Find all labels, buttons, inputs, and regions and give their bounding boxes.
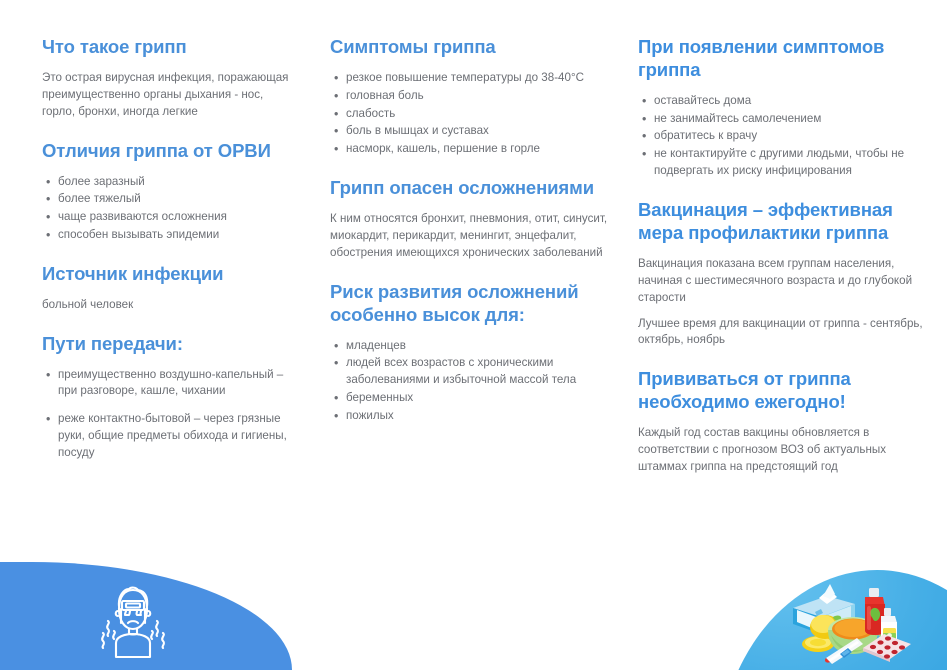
content-columns: Что такое грипп Это острая вирусная инфе… [0, 0, 947, 495]
section-heading: Симптомы гриппа [330, 36, 608, 59]
list-item: чаще развиваются осложнения [58, 209, 296, 226]
section-transmission-routes: Пути передачи: преимущественно воздушно-… [42, 333, 296, 462]
column-1: Что такое грипп Это острая вирусная инфе… [0, 36, 318, 495]
section-flu-vs-ari: Отличия гриппа от ОРВИ более заразный бо… [42, 140, 296, 244]
transmission-routes-list: преимущественно воздушно-капельный – при… [42, 367, 296, 462]
list-item: не контактируйте с другими людьми, чтобы… [654, 146, 933, 180]
section-heading: Вакцинация – эффективная мера профилакти… [638, 199, 933, 245]
section-if-symptoms-appear: При появлении симптомов гриппа оставайте… [638, 36, 933, 180]
list-item: более тяжелый [58, 191, 296, 208]
section-annual-vaccination: Прививаться от гриппа необходимо ежегодн… [638, 368, 933, 476]
section-high-risk-groups: Риск развития осложнений особенно высок … [330, 281, 608, 425]
section-infection-source: Источник инфекции больной человек [42, 263, 296, 314]
list-item: младенцев [346, 338, 608, 355]
list-item: резкое повышение температуры до 38-40°С [346, 70, 608, 87]
list-item: боль в мышцах и суставах [346, 123, 608, 140]
list-item: слабость [346, 106, 608, 123]
section-paragraph-1: Вакцинация показана всем группам населен… [638, 256, 933, 307]
list-item: людей всех возрастов с хроническими забо… [346, 355, 608, 389]
list-item: реже контактно-бытовой – через грязные р… [58, 411, 296, 461]
list-item: более заразный [58, 174, 296, 191]
list-item: беременных [346, 390, 608, 407]
flu-remedies-illustration [785, 572, 915, 664]
section-flu-complications: Грипп опасен осложнениями К ним относятс… [330, 177, 608, 262]
list-item: оставайтесь дома [654, 93, 933, 110]
list-item: преимущественно воздушно-капельный – при… [58, 367, 296, 401]
flu-symptoms-list: резкое повышение температуры до 38-40°С … [330, 70, 608, 158]
section-heading: Грипп опасен осложнениями [330, 177, 608, 200]
section-paragraph-2: Лучшее время для вакцинации от гриппа - … [638, 316, 933, 350]
section-heading: Пути передачи: [42, 333, 296, 356]
section-heading: Прививаться от гриппа необходимо ежегодн… [638, 368, 933, 414]
section-heading: Что такое грипп [42, 36, 296, 59]
section-paragraph: Каждый год состав вакцины обновляется в … [638, 425, 933, 476]
section-heading: Источник инфекции [42, 263, 296, 286]
list-item: головная боль [346, 88, 608, 105]
if-symptoms-appear-list: оставайтесь дома не занимайтесь самолече… [638, 93, 933, 180]
list-item: пожилых [346, 408, 608, 425]
list-item: способен вызывать эпидемии [58, 227, 296, 244]
list-item: насморк, кашель, першение в горле [346, 141, 608, 158]
section-paragraph: Это острая вирусная инфекция, поражающая… [42, 70, 296, 121]
list-item: не занимайтесь самолечением [654, 111, 933, 128]
infographic-page: Что такое грипп Это острая вирусная инфе… [0, 0, 947, 670]
flu-vs-ari-list: более заразный более тяжелый чаще развив… [42, 174, 296, 244]
section-heading: Риск развития осложнений особенно высок … [330, 281, 608, 327]
section-what-is-flu: Что такое грипп Это острая вирусная инфе… [42, 36, 296, 121]
list-item: обратитесь к врачу [654, 128, 933, 145]
high-risk-groups-list: младенцев людей всех возрастов с хрониче… [330, 338, 608, 425]
section-flu-symptoms: Симптомы гриппа резкое повышение темпера… [330, 36, 608, 158]
section-heading: При появлении симптомов гриппа [638, 36, 933, 82]
section-paragraph: К ним относятся бронхит, пневмония, отит… [330, 211, 608, 262]
section-heading: Отличия гриппа от ОРВИ [42, 140, 296, 163]
sick-person-with-compress-icon [95, 583, 171, 663]
column-3: При появлении симптомов гриппа оставайте… [628, 36, 947, 495]
section-paragraph: больной человек [42, 297, 296, 314]
column-2: Симптомы гриппа резкое повышение темпера… [318, 36, 628, 495]
section-vaccination: Вакцинация – эффективная мера профилакти… [638, 199, 933, 349]
